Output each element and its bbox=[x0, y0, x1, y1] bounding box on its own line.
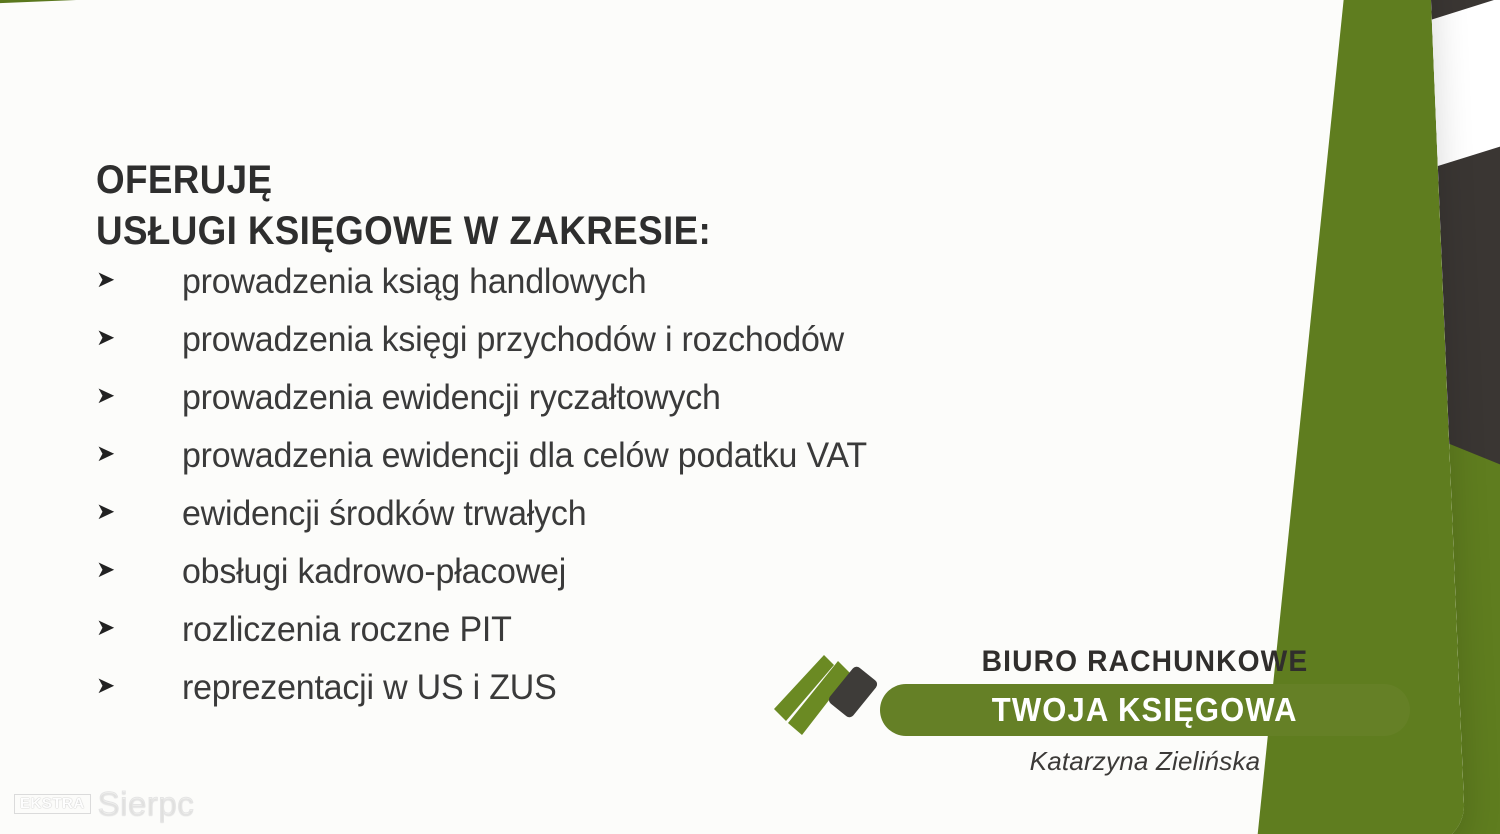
watermark: EKSTRA Sierpc bbox=[14, 787, 194, 820]
list-item-label: prowadzenia ewidencji ryczałtowych bbox=[182, 378, 721, 418]
logo-pill: TWOJA KSIĘGOWA bbox=[880, 684, 1410, 736]
watermark-name: Sierpc bbox=[98, 787, 195, 820]
list-item-label: prowadzenia księgi przychodów i rozchodó… bbox=[182, 320, 844, 360]
list-item-label: prowadzenia ksiąg handlowych bbox=[182, 262, 647, 302]
list-item-label: ewidencji środków trwałych bbox=[182, 494, 586, 534]
list-item: ➤ rozliczenia roczne PIT bbox=[96, 610, 888, 668]
banner-content: OFERUJĘ USŁUGI KSIĘGOWE W ZAKRESIE: ➤ pr… bbox=[0, 0, 1500, 834]
arrow-bullet-icon: ➤ bbox=[96, 500, 182, 523]
list-item: ➤ obsługi kadrowo-płacowej bbox=[96, 552, 888, 610]
headline-line-2: USŁUGI KSIĘGOWE W ZAKRESIE: bbox=[96, 206, 711, 257]
list-item-label: prowadzenia ewidencji dla celów podatku … bbox=[182, 436, 867, 476]
list-item-label: rozliczenia roczne PIT bbox=[182, 610, 512, 650]
list-item: ➤ prowadzenia księgi przychodów i rozcho… bbox=[96, 320, 888, 378]
list-item: ➤ reprezentacji w US i ZUS bbox=[96, 668, 888, 726]
arrow-bullet-icon: ➤ bbox=[96, 326, 182, 349]
arrow-bullet-icon: ➤ bbox=[96, 442, 182, 465]
page-title: OFERUJĘ USŁUGI KSIĘGOWE W ZAKRESIE: bbox=[96, 155, 711, 257]
logo-line-biuro-rachunkowe: BIURO RACHUNKOWE bbox=[896, 645, 1394, 679]
headline-line-1: OFERUJĘ bbox=[96, 155, 711, 206]
list-item: ➤ ewidencji środków trwałych bbox=[96, 494, 888, 552]
arrow-bullet-icon: ➤ bbox=[96, 268, 182, 291]
company-logo: BIURO RACHUNKOWE TWOJA KSIĘGOWA Katarzyn… bbox=[772, 645, 1412, 805]
list-item-label: obsługi kadrowo-płacowej bbox=[182, 552, 566, 592]
list-item: ➤ prowadzenia ewidencji ryczałtowych bbox=[96, 378, 888, 436]
logo-line-twoja-ksiegowa: TWOJA KSIĘGOWA bbox=[992, 691, 1298, 729]
watermark-badge: EKSTRA bbox=[14, 794, 91, 814]
arrow-bullet-icon: ➤ bbox=[96, 558, 182, 581]
logo-owner-name: Katarzyna Zielińska bbox=[880, 746, 1410, 777]
stacked-documents-icon bbox=[772, 649, 890, 745]
arrow-bullet-icon: ➤ bbox=[96, 616, 182, 639]
arrow-bullet-icon: ➤ bbox=[96, 384, 182, 407]
services-list: ➤ prowadzenia ksiąg handlowych ➤ prowadz… bbox=[96, 262, 888, 726]
list-item-label: reprezentacji w US i ZUS bbox=[182, 668, 557, 708]
list-item: ➤ prowadzenia ksiąg handlowych bbox=[96, 262, 888, 320]
promotional-banner: OFERUJĘ USŁUGI KSIĘGOWE W ZAKRESIE: ➤ pr… bbox=[0, 0, 1500, 834]
arrow-bullet-icon: ➤ bbox=[96, 674, 182, 697]
logo-text-block: BIURO RACHUNKOWE TWOJA KSIĘGOWA Katarzyn… bbox=[880, 645, 1410, 777]
list-item: ➤ prowadzenia ewidencji dla celów podatk… bbox=[96, 436, 888, 494]
